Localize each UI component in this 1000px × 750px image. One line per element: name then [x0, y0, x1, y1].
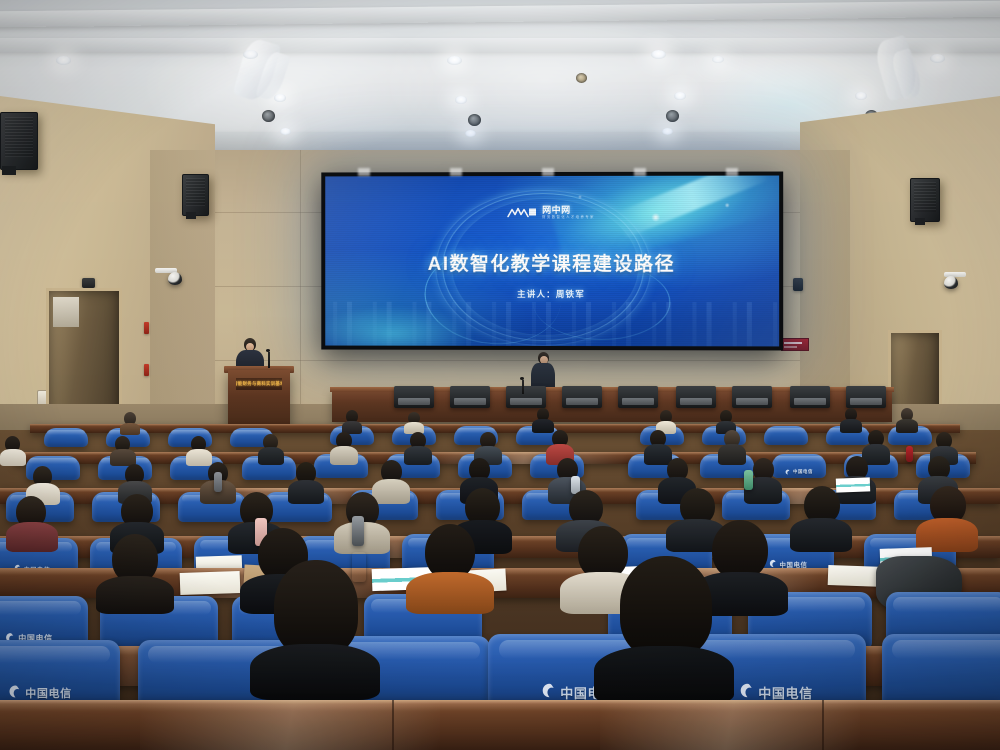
screen-top-glare — [318, 168, 784, 176]
ceiling-downlight — [56, 56, 71, 65]
ceiling-smoke-detector — [576, 73, 587, 83]
seat-brand-text: 中国电信 — [793, 469, 813, 475]
speaker-bracket — [2, 166, 16, 175]
person-torso — [96, 576, 174, 614]
audience-person — [840, 408, 862, 432]
slide-title: AI数智化教学课程建设路径 — [325, 249, 779, 276]
audience-person — [110, 436, 136, 464]
podium-plaque-text: 智能财务与商科实训基地 — [236, 381, 282, 387]
wall-alcove-left — [46, 288, 122, 422]
person-torso — [6, 522, 58, 552]
table-monitor — [676, 386, 716, 408]
table-monitor — [450, 386, 490, 408]
thermos-bottle — [214, 472, 222, 492]
person-torso — [896, 419, 918, 433]
wave-w-logo-icon — [507, 206, 537, 219]
table-microphone-stand — [522, 380, 524, 394]
wall-speaker-left-front — [182, 174, 209, 216]
person-torso — [594, 646, 734, 704]
audience-person — [96, 534, 174, 610]
audience-person — [916, 486, 978, 550]
audience-person — [342, 410, 362, 432]
fire-equipment-marker — [144, 364, 149, 376]
desk-sheen — [600, 700, 860, 750]
ceiling-downlight — [662, 128, 673, 135]
podium-microphone-stand — [268, 352, 270, 368]
audience-person — [288, 462, 324, 502]
audience-person — [330, 432, 358, 464]
desk-sheen — [418, 452, 630, 464]
china-telecom-icon — [785, 469, 791, 476]
person-torso — [250, 644, 380, 700]
desk-panel-seam — [392, 700, 394, 750]
audience-person-foreground — [250, 560, 380, 686]
ceiling-downlight — [280, 128, 291, 135]
seat — [44, 428, 88, 447]
audience-person — [120, 412, 140, 432]
speaker-bracket — [915, 218, 925, 225]
podium-plaque: 智能财务与商科实训基地 — [236, 378, 282, 390]
audience-person — [896, 408, 918, 432]
ptz-camera-right — [944, 276, 958, 289]
person-torso — [288, 480, 324, 504]
table-monitor — [732, 386, 772, 408]
table-monitor — [394, 386, 434, 408]
person-torso — [258, 447, 284, 465]
audience-person — [790, 486, 852, 550]
person-torso — [330, 446, 358, 465]
front-desk-highlight — [0, 700, 1000, 704]
audience-person — [532, 408, 554, 432]
table-monitor — [846, 386, 886, 408]
audience-person — [406, 524, 494, 610]
slide-logo-lockup: 网中网 财务数智化人才培养专家 — [325, 205, 779, 221]
ceiling-spot-housing — [262, 110, 275, 122]
wall-sensor-right — [793, 278, 803, 291]
person-torso — [0, 449, 26, 466]
ceiling-downlight — [855, 92, 867, 100]
ceiling-downlight — [712, 56, 724, 63]
audience-person — [716, 410, 736, 432]
fire-equipment-marker — [144, 322, 149, 334]
slide-subtitle: 主讲人：周铁军 — [325, 288, 779, 300]
led-presentation-screen[interactable]: 网中网 财务数智化人才培养专家 AI数智化教学课程建设路径 主讲人：周铁军 — [321, 172, 783, 351]
sign-text-line — [784, 346, 798, 348]
slide-bottom-glow — [325, 305, 478, 346]
alcove-panel — [53, 297, 79, 327]
thermos-bottle — [906, 446, 913, 462]
person-head — [620, 556, 712, 658]
slide-canvas: 网中网 财务数智化人才培养专家 AI数智化教学课程建设路径 主讲人：周铁军 — [325, 176, 779, 347]
ceiling-beam-front — [0, 0, 1000, 28]
audience-person — [0, 436, 26, 464]
ceiling-downlight — [274, 94, 286, 102]
front-desk-edge — [0, 700, 1000, 750]
table-monitor — [506, 386, 546, 408]
ceiling-spot-housing — [468, 114, 481, 126]
ceiling-beam-mid — [0, 38, 1000, 52]
audience-person — [186, 436, 212, 464]
seat-brand-text: 中国电信 — [25, 685, 71, 701]
audience-person — [718, 430, 746, 464]
seat — [764, 426, 808, 445]
seat: 中国电信 — [0, 640, 120, 706]
person-torso — [406, 572, 494, 614]
ceiling-downlight — [447, 56, 462, 65]
speaker-bracket — [186, 212, 196, 219]
sign-text-line — [784, 342, 802, 344]
slide-logo-text: 网中网 财务数智化人才培养专家 — [542, 205, 595, 220]
ceiling-downlight — [651, 50, 666, 59]
table-monitor — [618, 386, 658, 408]
ceiling-downlight — [243, 50, 258, 59]
ceiling-downlight — [674, 92, 686, 100]
audience-person-foreground — [594, 556, 734, 688]
ceiling-downlight — [930, 54, 945, 63]
ptz-camera-left — [168, 272, 182, 285]
person-torso — [840, 419, 862, 433]
wall-panel-seam — [300, 150, 301, 410]
audience-person — [404, 412, 424, 432]
seat — [882, 634, 1000, 706]
audience-person — [656, 410, 676, 432]
desk-sheen — [140, 700, 440, 750]
person-torso — [790, 518, 852, 552]
audience-person — [6, 496, 58, 548]
podium-microphone — [266, 349, 270, 352]
table-monitor — [562, 386, 602, 408]
ceiling-spot-housing — [666, 110, 679, 122]
wall-sensor-left — [82, 278, 95, 288]
slide-glow-dot — [578, 195, 582, 199]
drink-bottle — [744, 470, 753, 490]
person-head — [274, 560, 358, 656]
wall-speaker-left-rear — [0, 112, 38, 170]
ceiling-downlight — [455, 96, 467, 104]
audience-person — [258, 434, 284, 464]
desk-panel-seam — [822, 700, 824, 750]
thermos-bottle — [352, 516, 364, 546]
person-torso — [120, 423, 140, 435]
conference-hall-photo: 网中网 财务数智化人才培养专家 AI数智化教学课程建设路径 主讲人：周铁军 — [0, 0, 1000, 750]
table-microphone — [520, 377, 524, 380]
table-monitor — [790, 386, 830, 408]
slide-logo-tagline: 财务数智化人才培养专家 — [542, 215, 595, 220]
exit-sign — [781, 338, 809, 351]
slide-logo-name: 网中网 — [542, 205, 571, 215]
wall-speaker-right-front — [910, 178, 940, 222]
person-torso — [718, 444, 746, 465]
handout-document — [180, 571, 241, 595]
ceiling-downlight — [465, 130, 476, 137]
